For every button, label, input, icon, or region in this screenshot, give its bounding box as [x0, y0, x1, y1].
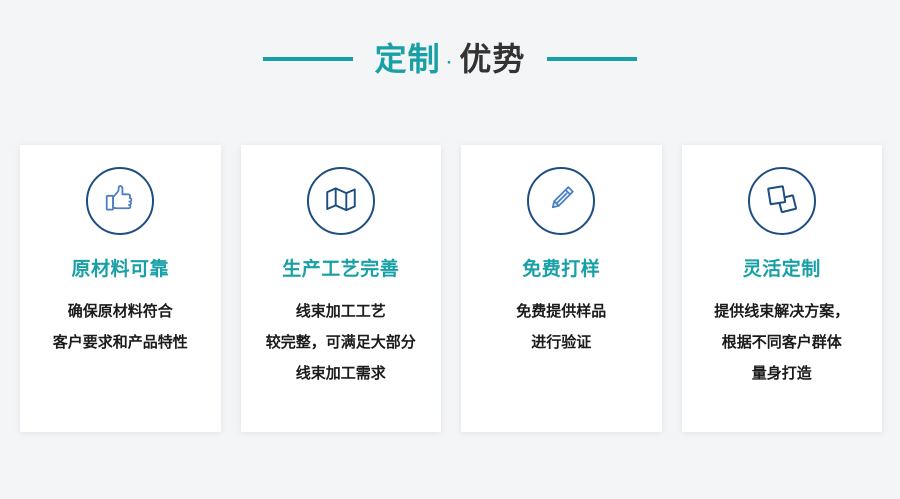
page-title-accent: 定制 [375, 43, 441, 75]
page-title: 定制 · 优势 [375, 43, 526, 75]
feature-card[interactable]: 生产工艺完善 线束加工工艺 较完整，可满足大部分 线束加工需求 [241, 145, 442, 432]
promo-section: 定制 · 优势 原材料可靠 确保原材料符合 客户要求 [0, 0, 900, 499]
feature-card[interactable]: 灵活定制 提供线束解决方案， 根据不同客户群体 量身打造 [682, 145, 883, 432]
feature-card-title: 灵活定制 [743, 259, 821, 282]
folded-map-icon [323, 181, 359, 222]
thumbs-up-icon [103, 182, 137, 221]
feature-card[interactable]: 免费打样 免费提供样品 进行验证 [461, 145, 662, 432]
feature-card-title: 原材料可靠 [71, 259, 169, 282]
icon-circle [86, 167, 154, 235]
icon-circle [307, 167, 375, 235]
feature-card-body: 确保原材料符合 客户要求和产品特性 [45, 296, 196, 358]
feature-card-title: 生产工艺完善 [282, 259, 399, 282]
header-rule-left [263, 57, 353, 61]
feature-card-body: 线束加工工艺 较完整，可满足大部分 线束加工需求 [258, 296, 424, 389]
feature-card-body: 提供线束解决方案， 根据不同客户群体 量身打造 [706, 296, 857, 389]
page-title-plain: 优势 [459, 43, 525, 75]
stacked-cards-icon [764, 181, 800, 222]
icon-circle [527, 167, 595, 235]
icon-circle [748, 167, 816, 235]
header-rule-right [547, 57, 637, 61]
page-title-separator: · [447, 54, 454, 71]
feature-card[interactable]: 原材料可靠 确保原材料符合 客户要求和产品特性 [20, 145, 221, 432]
section-header: 定制 · 优势 [0, 28, 900, 90]
feature-card-list: 原材料可靠 确保原材料符合 客户要求和产品特性 生产工艺完善 线束加工工艺 较完… [20, 145, 882, 432]
feature-card-body: 免费提供样品 进行验证 [508, 296, 614, 358]
feature-card-title: 免费打样 [522, 259, 600, 282]
pencil-icon [543, 181, 579, 222]
